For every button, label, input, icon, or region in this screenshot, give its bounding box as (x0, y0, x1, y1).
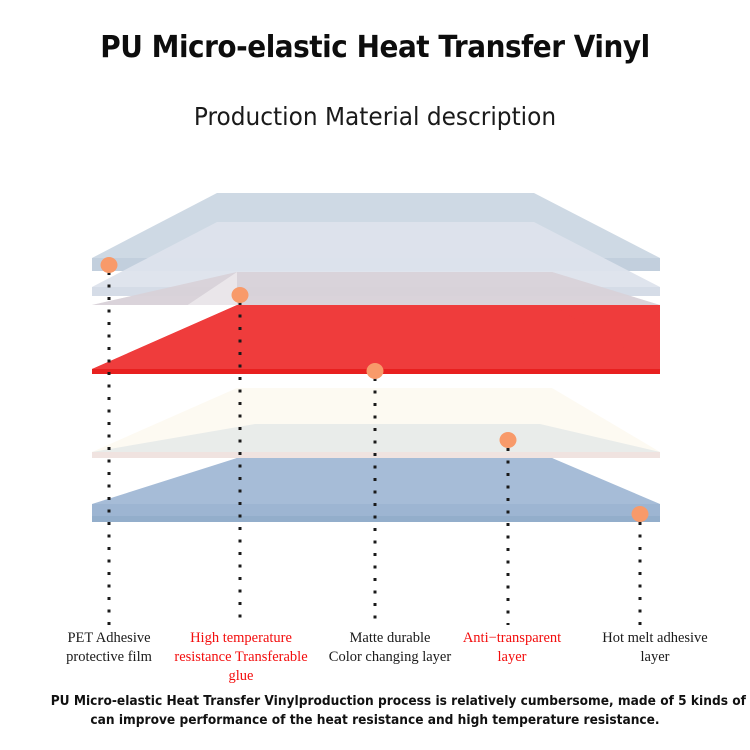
layer-label-line: resistance Transferable (155, 648, 327, 667)
layer-label-line: layer (452, 648, 572, 667)
caption: PU Micro-elastic Heat Transfer Vinylprod… (51, 692, 700, 730)
diagram-layer-4 (92, 388, 660, 458)
page-root: PU Micro-elastic Heat Transfer Vinyl Pro… (0, 0, 750, 750)
layer-4-marker-dot[interactable] (500, 432, 517, 448)
layer-label-line: glue (155, 667, 327, 686)
layer-5-marker-dot[interactable] (632, 506, 649, 522)
layer-label-line: High temperature (155, 629, 327, 648)
layer-label-hot-melt-adhesive-layer: Hot melt adhesive layer (580, 629, 730, 667)
layer-label-line: Anti−transparent (452, 629, 572, 648)
layer-label-line: layer (580, 648, 730, 667)
layer-label-line: Hot melt adhesive (580, 629, 730, 648)
layer-label-high-temperature-resistance-transferable-glue: High temperature resistance Transferable… (155, 629, 327, 686)
layer-label-line: Matte durable (310, 629, 470, 648)
diagram-layer-3 (92, 272, 660, 374)
caption-line-2: can improve performance of the heat resi… (51, 711, 700, 730)
layer-1-marker-dot[interactable] (101, 257, 118, 273)
layer-label-anti-transparent-layer: Anti−transparent layer (452, 629, 572, 667)
caption-line-1: PU Micro-elastic Heat Transfer Vinylprod… (51, 692, 700, 711)
layer-2-marker-dot[interactable] (232, 287, 249, 303)
layer-label-line: Color changing layer (310, 648, 470, 667)
layer-3-marker-dot[interactable] (367, 363, 384, 379)
layer-label-matte-durable-color-changing-layer: Matte durable Color changing layer (310, 629, 470, 667)
